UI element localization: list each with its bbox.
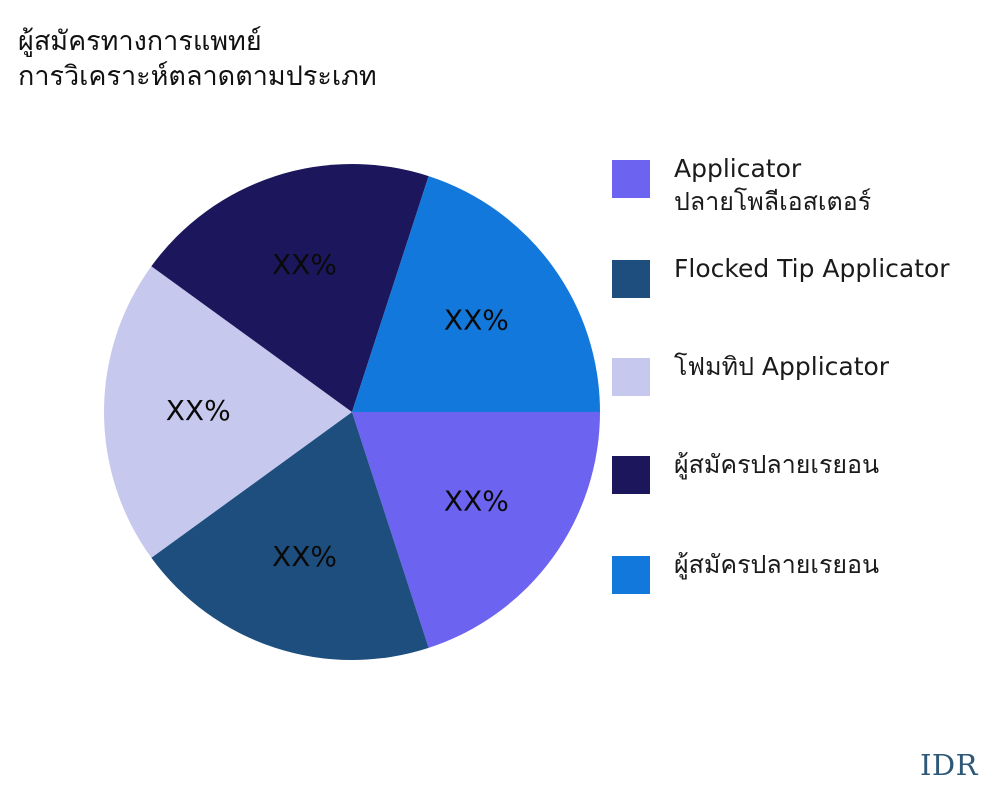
slice-value-label: XX% [272, 248, 337, 281]
legend-item-label: ผู้สมัครปลายเรยอน [674, 448, 879, 481]
title-line-2: การวิเคราะห์ตลาดตามประเภท [18, 59, 578, 94]
legend-item[interactable]: Applicatorปลายโพลีเอสเตอร์ [612, 152, 871, 204]
slice-value-label: XX% [444, 304, 509, 337]
watermark-idr: IDR [920, 748, 978, 782]
legend-item-label: โฟมทิป Applicator [674, 350, 889, 383]
legend-item[interactable]: โฟมทิป Applicator [612, 350, 889, 402]
slice-value-label: XX% [272, 540, 337, 573]
chart-title: ผู้สมัครทางการแพทย์ การวิเคราะห์ตลาดตามป… [18, 24, 578, 94]
pie-svg: XX%XX%XX%XX%XX% [0, 130, 610, 700]
legend-item[interactable]: Flocked Tip Applicator [612, 252, 950, 304]
legend-color-swatch [612, 358, 650, 396]
legend-item-label-line2: ปลายโพลีเอสเตอร์ [674, 185, 871, 218]
legend-item[interactable]: ผู้สมัครปลายเรยอน [612, 548, 879, 600]
pie-chart-figure: ผู้สมัครทางการแพทย์ การวิเคราะห์ตลาดตามป… [0, 0, 1000, 800]
legend-color-swatch [612, 456, 650, 494]
legend-item-label: ผู้สมัครปลายเรยอน [674, 548, 879, 581]
legend-color-swatch [612, 160, 650, 198]
legend-color-swatch [612, 556, 650, 594]
slice-value-label: XX% [166, 394, 231, 427]
title-line-1: ผู้สมัครทางการแพทย์ [18, 24, 578, 59]
legend-item-label: Applicatorปลายโพลีเอสเตอร์ [674, 152, 871, 218]
chart-legend: Applicatorปลายโพลีเอสเตอร์Flocked Tip Ap… [612, 152, 1000, 622]
slice-value-label: XX% [444, 484, 509, 517]
legend-item-label: Flocked Tip Applicator [674, 252, 950, 285]
legend-item[interactable]: ผู้สมัครปลายเรยอน [612, 448, 879, 500]
legend-color-swatch [612, 260, 650, 298]
pie-plot-area: XX%XX%XX%XX%XX% [0, 130, 610, 700]
